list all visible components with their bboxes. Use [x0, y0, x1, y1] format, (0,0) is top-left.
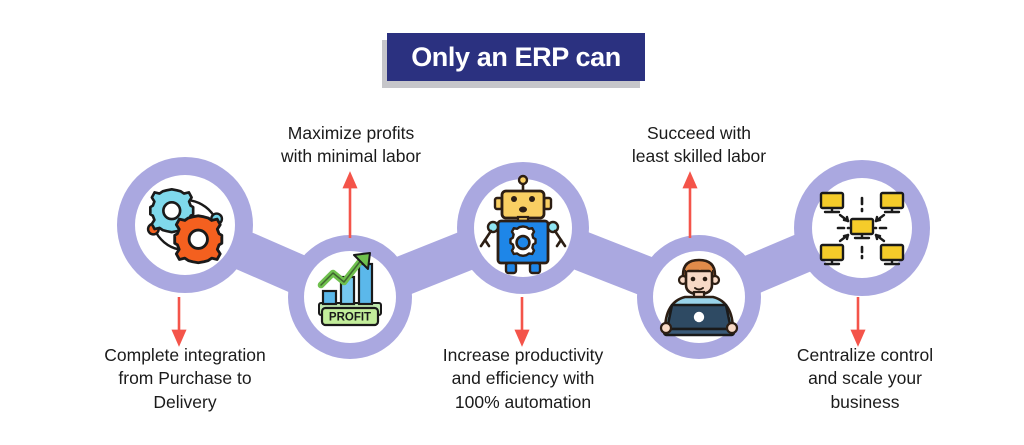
infographic-root: Only an ERP can — [0, 0, 1024, 445]
caption-step-4: Succeed with least skilled labor — [600, 122, 798, 169]
caption-step-2: Maximize profits with minimal labor — [253, 122, 449, 169]
caption-step-5: Centralize control and scale your busine… — [762, 344, 968, 414]
caption-step-1: Complete integration from Purchase to De… — [56, 344, 314, 414]
profit-label: PROFIT — [329, 312, 371, 324]
caption-step-3: Increase productivity and efficiency wit… — [412, 344, 634, 414]
